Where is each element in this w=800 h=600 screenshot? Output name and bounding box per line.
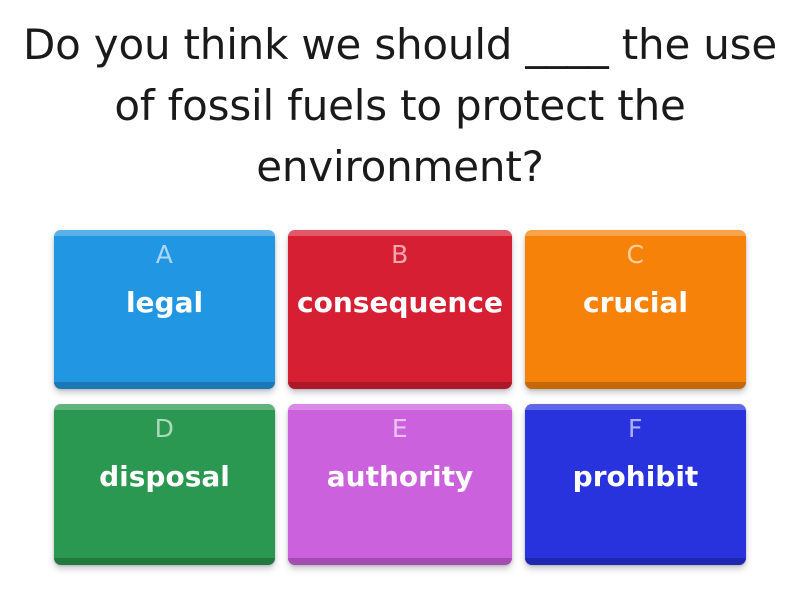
question-area: Do you think we should ____ the use of f…: [0, 14, 800, 197]
question-text: Do you think we should ____ the use of f…: [18, 14, 782, 197]
answer-letter-b: B: [391, 240, 409, 270]
answer-label-b: consequence: [289, 286, 511, 320]
answer-tile-b[interactable]: B consequence: [288, 230, 512, 389]
answer-letter-f: F: [628, 414, 643, 444]
answer-label-d: disposal: [91, 460, 238, 494]
answer-tile-f[interactable]: F prohibit: [525, 404, 746, 565]
answer-label-f: prohibit: [565, 460, 707, 494]
answer-tile-c[interactable]: C crucial: [525, 230, 746, 389]
answer-tile-e[interactable]: E authority: [288, 404, 512, 565]
answer-letter-e: E: [392, 414, 408, 444]
quiz-screen: Do you think we should ____ the use of f…: [0, 0, 800, 600]
answer-tile-a[interactable]: A legal: [54, 230, 275, 389]
answer-label-e: authority: [319, 460, 481, 494]
answer-letter-c: C: [627, 240, 645, 270]
answer-letter-a: A: [156, 240, 174, 270]
answer-label-c: crucial: [575, 286, 696, 320]
answer-label-a: legal: [118, 286, 211, 320]
answer-options-grid: A legal B consequence C crucial D dispos…: [54, 230, 746, 565]
answer-letter-d: D: [155, 414, 175, 444]
answer-tile-d[interactable]: D disposal: [54, 404, 275, 565]
